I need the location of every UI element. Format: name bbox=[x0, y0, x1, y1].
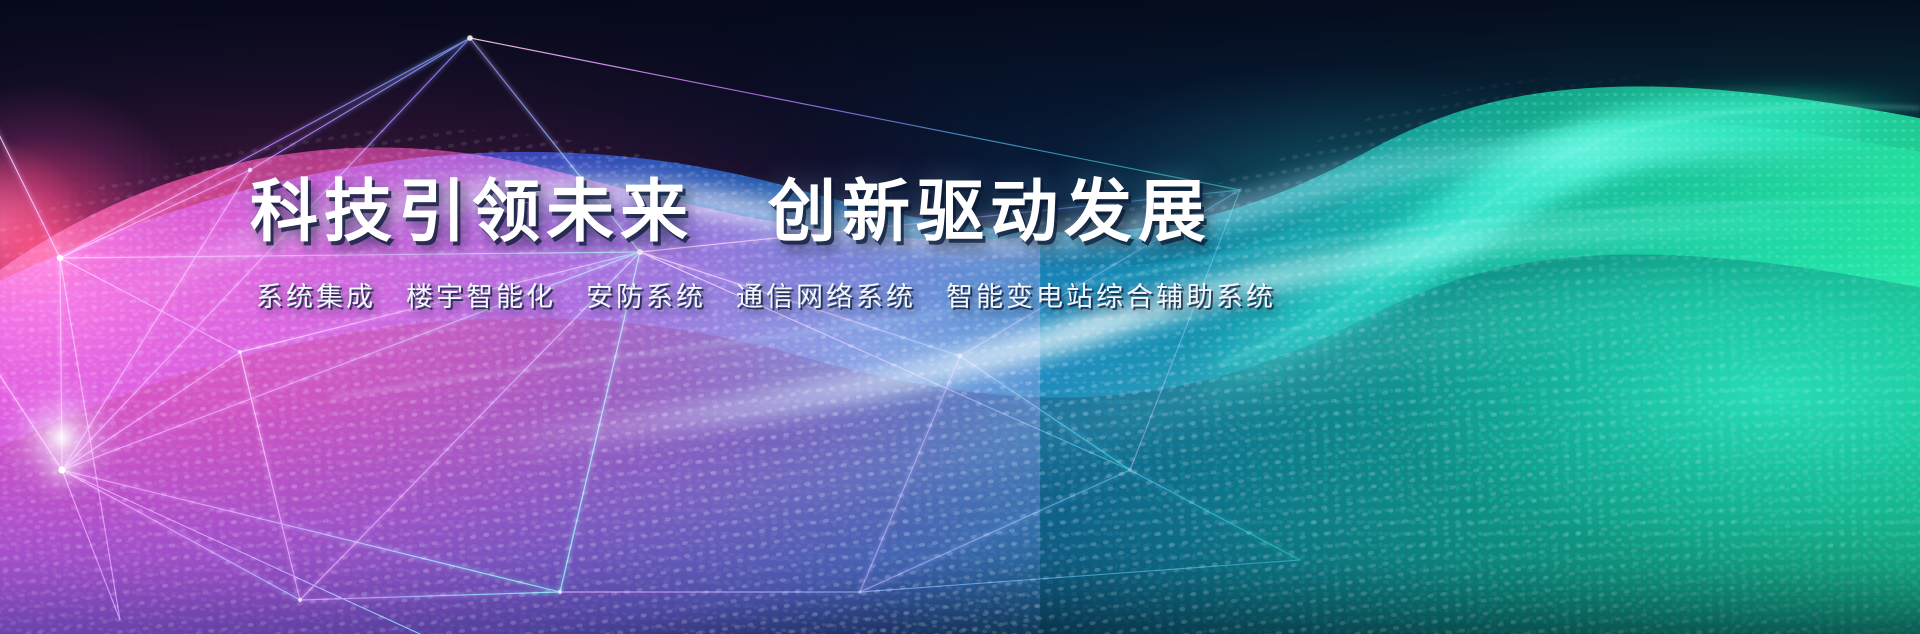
banner-headline: 科技引领未来 创新驱动发展 bbox=[250, 178, 1430, 247]
green-crest-highlight bbox=[0, 0, 1920, 634]
banner-text-block: 科技引领未来 创新驱动发展 系统集成 楼宇智能化 安防系统 通信网络系统 智能变… bbox=[250, 178, 1430, 314]
tech-banner: 科技引领未来 创新驱动发展 系统集成 楼宇智能化 安防系统 通信网络系统 智能变… bbox=[0, 0, 1920, 634]
banner-subline: 系统集成 楼宇智能化 安防系统 通信网络系统 智能变电站综合辅助系统 bbox=[256, 275, 1430, 314]
